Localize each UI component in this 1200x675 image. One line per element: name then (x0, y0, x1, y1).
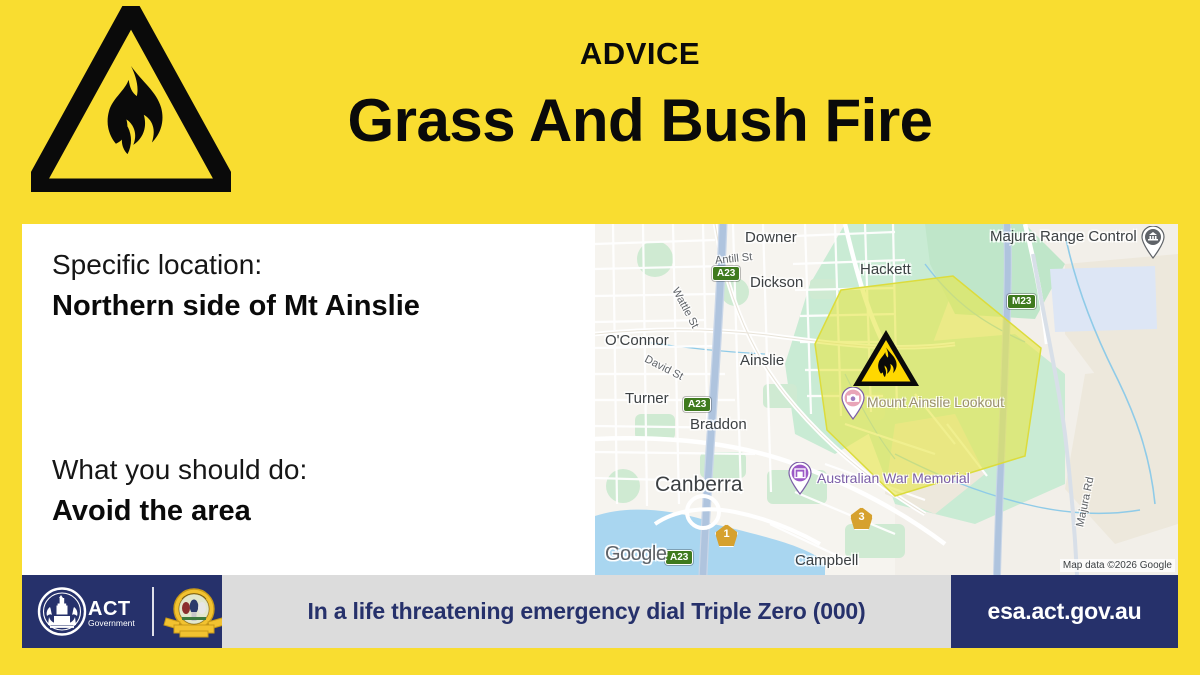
google-logo: Google (605, 543, 667, 566)
alert-level-label: ADVICE (240, 38, 1040, 69)
specific-location-value: Northern side of Mt Ainslie (52, 288, 420, 324)
svg-text:Government: Government (88, 618, 135, 628)
what-to-do-value: Avoid the area (52, 493, 307, 529)
fire-warning-triangle-icon[interactable] (851, 327, 921, 389)
incident-map[interactable]: Downer Dickson Hackett O'Connor Ainslie … (595, 224, 1178, 575)
page-title: Grass And Bush Fire (240, 89, 1040, 152)
info-panel: Specific location: Northern side of Mt A… (22, 224, 595, 575)
emergency-message-block: In a life threatening emergency dial Tri… (222, 575, 951, 648)
website-url-block[interactable]: esa.act.gov.au (951, 575, 1178, 648)
content-panel: Specific location: Northern side of Mt A… (22, 224, 1178, 575)
map-attribution: Map data ©2026 Google (1060, 559, 1175, 572)
logo-divider (152, 587, 154, 636)
map-road-shield: M23 (1007, 294, 1036, 309)
specific-location-field: Specific location: Northern side of Mt A… (52, 247, 420, 324)
esa-crest-logo (162, 585, 226, 639)
footer-bar: ACT Government In a life threatening eme… (22, 575, 1178, 648)
fire-warning-triangle-icon (31, 6, 231, 192)
map-road-shield: A23 (712, 266, 740, 281)
footer-logo-block: ACT Government (22, 575, 222, 648)
act-government-logo: ACT Government (37, 586, 145, 637)
header-text-block: ADVICE Grass And Bush Fire (240, 10, 1040, 152)
emergency-message-text: In a life threatening emergency dial Tri… (308, 598, 866, 625)
poi-pin-building-icon[interactable] (1140, 226, 1166, 259)
poi-pin-camera-icon[interactable] (840, 387, 866, 420)
what-to-do-field: What you should do: Avoid the area (52, 452, 307, 529)
poi-pin-museum-icon[interactable] (787, 462, 813, 495)
what-to-do-label: What you should do: (52, 452, 307, 487)
alert-header: ADVICE Grass And Bush Fire (0, 0, 1200, 218)
svg-text:ACT: ACT (88, 598, 131, 620)
website-url-text: esa.act.gov.au (987, 598, 1141, 625)
map-road-shield: A23 (683, 397, 711, 412)
map-road-shield: A23 (665, 550, 693, 565)
specific-location-label: Specific location: (52, 247, 420, 282)
